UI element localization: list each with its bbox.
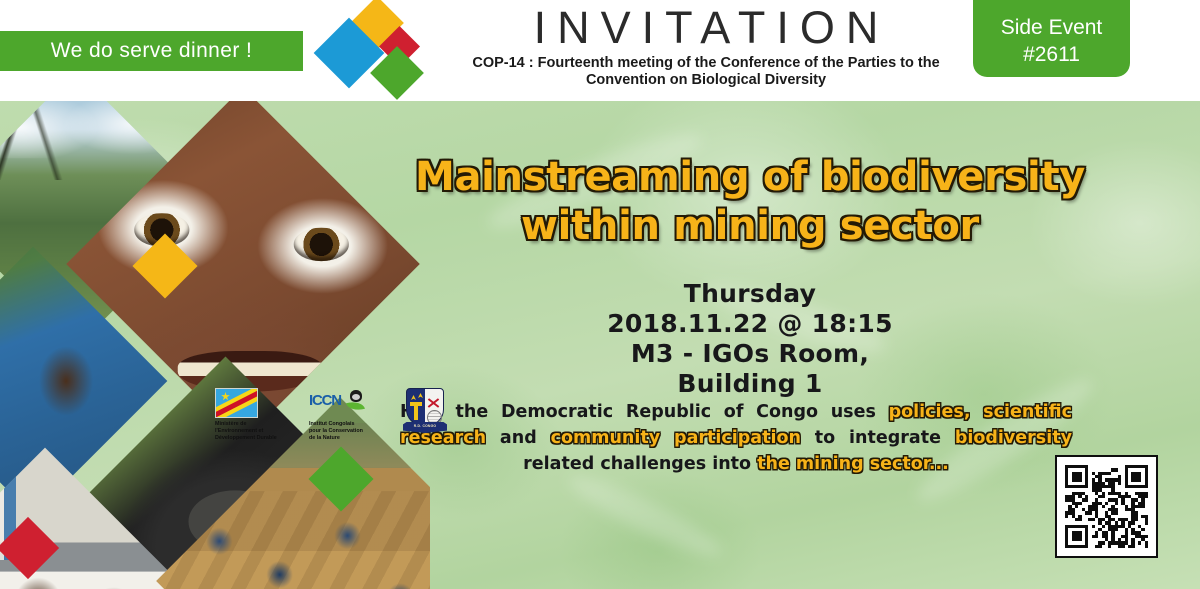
invitation-title: INVITATION [436,2,976,54]
ministere-environnement-logo: Ministère de l'Environnement et Développ… [215,388,293,443]
iccn-acronym: ICCN [309,392,341,409]
ministere-environnement-caption: Ministère de l'Environnement et Développ… [215,421,277,443]
shield-icon: R.D. CONGO [403,388,447,435]
crossed-picks-icon [427,397,440,409]
description-highlight-7: the mining sector... [757,454,949,474]
description-highlight-5: biodiversity [955,428,1072,448]
mining-shield-emblem: R.D. CONGO [403,388,481,435]
description-text-2: and [486,428,551,448]
description-text-6: related challenges into [523,454,757,474]
shield-ribbon-text: R.D. CONGO [403,424,447,428]
side-event-number: #2611 [1023,41,1080,68]
qr-code-matrix [1065,465,1148,548]
event-datetime-location: Thursday 2018.11.22 @ 18:15 M3 - IGOs Ro… [400,279,1100,399]
poster-header: We do serve dinner ! INVITATION COP-14 :… [0,0,1200,101]
event-description: How the Democratic Republic of Congo use… [400,399,1072,477]
invitation-subtitle: COP-14 : Fourteenth meeting of the Confe… [436,55,976,89]
dinner-banner: We do serve dinner ! [0,31,303,71]
drc-flag-icon [215,388,258,418]
description-text-4: to integrate [801,428,955,448]
event-title: Mainstreaming of biodiversity within min… [400,153,1100,251]
qr-code[interactable] [1055,455,1158,558]
iccn-caption: Institut Congolais pour la Conservation … [309,421,363,443]
description-highlight-3: community participation [551,428,801,448]
dinner-banner-label: We do serve dinner ! [51,39,252,63]
invitation-heading-block: INVITATION COP-14 : Fourteenth meeting o… [436,0,976,101]
iccn-logo: ICCN Institut Congolais pour la Conserva… [309,388,387,443]
iccn-mark-icon: ICCN [309,388,369,418]
photo-collage [0,101,430,589]
side-event-label: Side Event [1001,14,1103,41]
gorilla-icon [350,390,362,402]
shield-ribbon: R.D. CONGO [403,422,447,433]
side-event-invitation-poster: Mainstreaming of biodiversity within min… [0,0,1200,589]
cbd-diamond-logo [316,2,426,98]
side-event-badge: Side Event #2611 [973,0,1130,77]
partner-logos: Ministère de l'Environnement et Développ… [215,388,485,458]
